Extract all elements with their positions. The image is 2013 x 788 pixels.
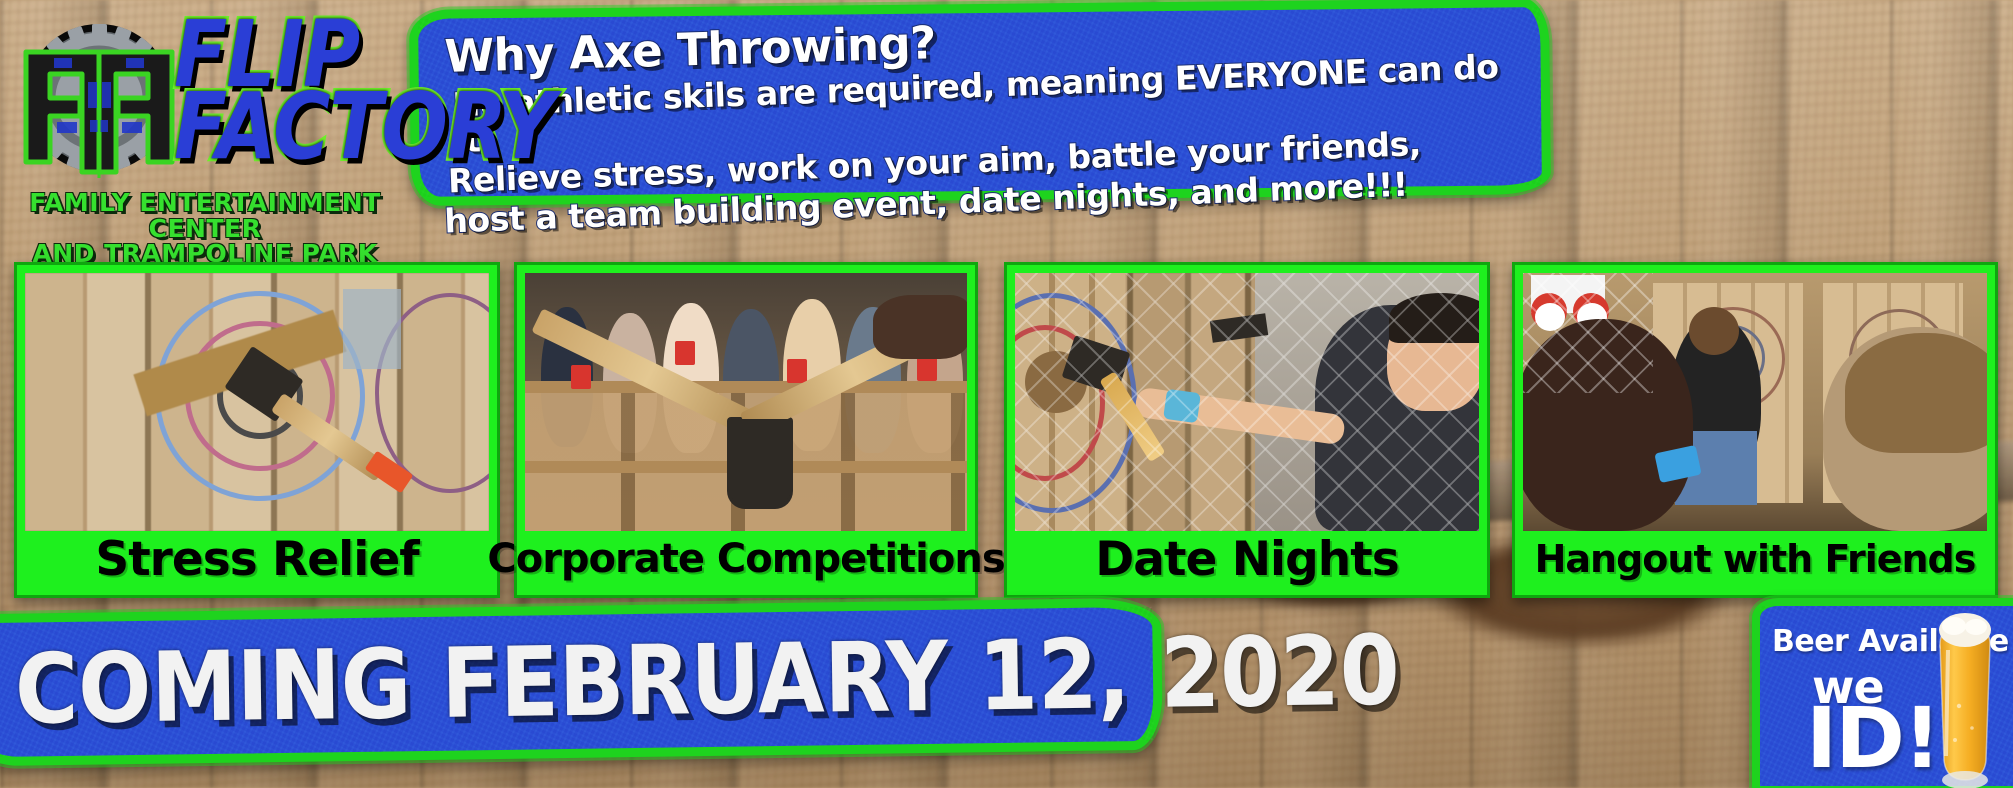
date-nights-photo	[1015, 273, 1479, 531]
beer-glass-icon	[1926, 610, 2004, 788]
beer-badge-line-3: ID!	[1806, 700, 1939, 777]
feature-card-row: Stress Relief	[0, 262, 2013, 598]
chain-link-fence	[1015, 273, 1479, 531]
feature-card-hangout-with-friends[interactable]: Hangout with Friends	[1512, 262, 1998, 598]
coming-date-text: COMING FEBRUARY 12, 2020	[14, 613, 1136, 752]
feature-card-corporate-competitions[interactable]: Corporate Competitions	[514, 262, 978, 598]
brand-logo-block[interactable]: FLIP FACTORY FAMILY ENTERTAINMENT CENTER…	[6, 4, 406, 254]
axe-icon	[225, 357, 405, 527]
feature-card-date-nights[interactable]: Date Nights	[1004, 262, 1490, 598]
feature-card-caption: Corporate Competitions	[525, 531, 967, 587]
feature-card-caption: Hangout with Friends	[1523, 531, 1987, 587]
stress-relief-photo	[25, 273, 489, 531]
gear-ff-monogram-logo	[10, 12, 188, 190]
brand-tagline: FAMILY ENTERTAINMENT CENTER AND TRAMPOLI…	[6, 190, 404, 267]
feature-card-caption: Stress Relief	[25, 531, 489, 587]
feature-card-caption: Date Nights	[1015, 531, 1479, 587]
why-axe-throwing-panel: Why Axe Throwing? No athletic skils are …	[409, 0, 1551, 206]
feature-card-stress-relief[interactable]: Stress Relief	[14, 262, 500, 598]
tagline-line-1: FAMILY ENTERTAINMENT CENTER	[6, 190, 404, 241]
hangout-with-friends-photo	[1523, 273, 1987, 531]
beer-available-badge: Beer Available we ID!	[1752, 598, 2013, 788]
coming-date-banner: COMING FEBRUARY 12, 2020	[0, 598, 1163, 767]
corporate-competitions-photo	[525, 273, 967, 531]
brand-wordmark: FLIP FACTORY	[174, 6, 406, 166]
promo-banner: FLIP FACTORY FAMILY ENTERTAINMENT CENTER…	[0, 0, 2013, 788]
brand-word-factory: FACTORY	[174, 74, 406, 180]
